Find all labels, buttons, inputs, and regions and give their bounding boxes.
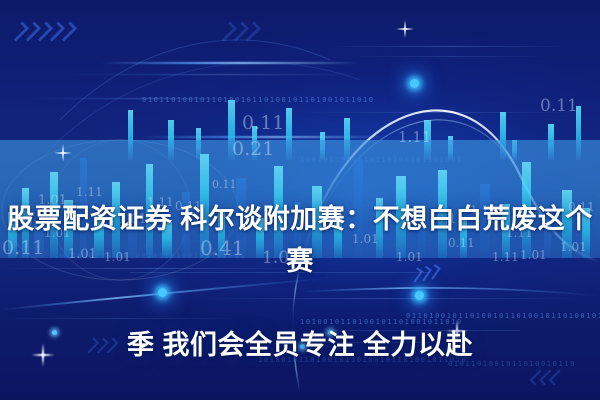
chevron-right-top-mid [222, 22, 256, 41]
stock-news-banner: 0101101001011010010110100101101001011010… [0, 0, 600, 400]
mesh-arc-1 [60, 40, 330, 120]
glow-node-arc-peak [410, 79, 419, 88]
headline-line-2: 季 我们会全员专注 全力以赴 [4, 324, 596, 366]
binary-row-1: 0101101001011010010110100101101001011010 [142, 96, 375, 104]
sparkle-top [396, 20, 414, 38]
chevron-right-top-left [14, 22, 72, 41]
headline-line-1: 股票配资证券 科尔谈附加赛：不想白白荒废这个赛 [4, 198, 596, 282]
page-title: 股票配资证券 科尔谈附加赛：不想白白荒废这个赛 季 我们会全员专注 全力以赴 [0, 156, 600, 400]
